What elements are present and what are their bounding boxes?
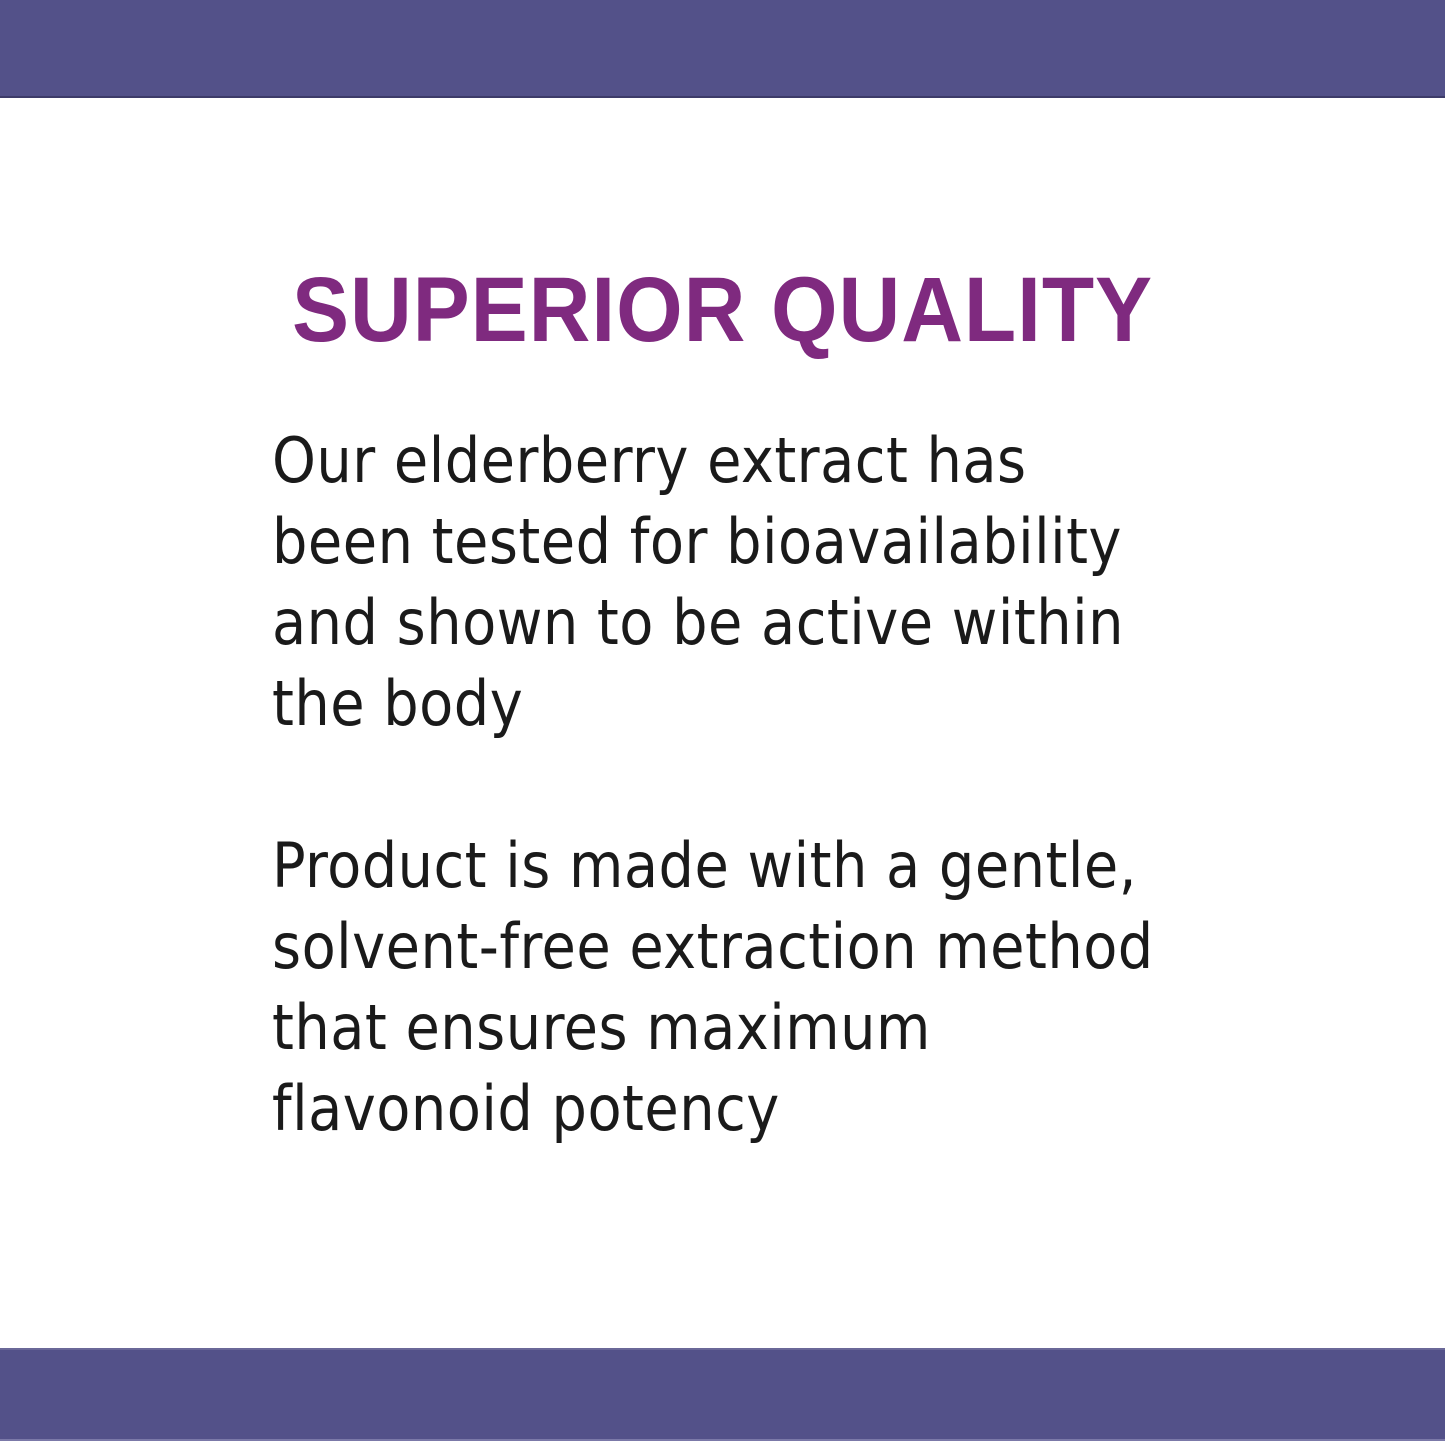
paragraph-line: been tested for bioavailability	[272, 501, 1232, 582]
paragraph-line: Product is made with a gentle,	[272, 825, 1232, 906]
poster-content: SUPERIOR QUALITY Our elderberry extract …	[0, 96, 1445, 1348]
paragraph-extraction-method: Product is made with a gentle, solvent-f…	[272, 825, 1232, 1149]
top-accent-band	[0, 0, 1445, 98]
body-copy: Our elderberry extract has been tested f…	[272, 420, 1232, 1149]
product-info-poster: SUPERIOR QUALITY Our elderberry extract …	[0, 0, 1445, 1445]
paragraph-line: flavonoid potency	[272, 1068, 1232, 1149]
paragraph-line: Our elderberry extract has	[272, 420, 1232, 501]
paragraph-line: that ensures maximum	[272, 987, 1232, 1068]
page-title: SUPERIOR QUALITY	[51, 262, 1395, 358]
paragraph-line: solvent-free extraction method	[272, 906, 1232, 987]
paragraph-line: the body	[272, 663, 1232, 744]
paragraph-bioavailability: Our elderberry extract has been tested f…	[272, 420, 1232, 744]
bottom-accent-band	[0, 1348, 1445, 1441]
paragraph-line: and shown to be active within	[272, 582, 1232, 663]
